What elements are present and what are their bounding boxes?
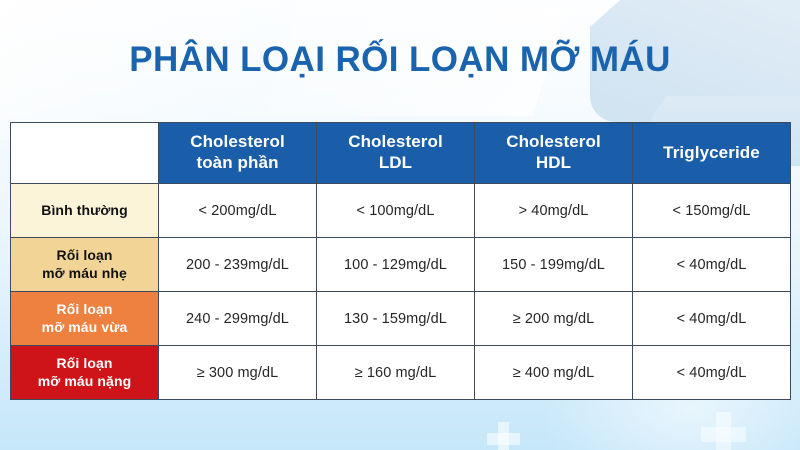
row-label-line2: mỡ máu nặng xyxy=(11,373,158,391)
cell-value: ≥ 300 mg/dL xyxy=(159,346,317,400)
column-header-triglyceride: Triglyceride xyxy=(633,123,791,184)
row-label-roi-loan-nang: Rối loạn mỡ máu nặng xyxy=(11,346,159,400)
hexagon-icon xyxy=(300,392,484,450)
cell-value: 130 - 159mg/dL xyxy=(317,292,475,346)
column-header-line1: Cholesterol xyxy=(317,132,474,153)
cell-value: > 40mg/dL xyxy=(475,184,633,238)
row-label-line1: Bình thường xyxy=(11,202,158,220)
cell-value: < 100mg/dL xyxy=(317,184,475,238)
column-header-line1: Cholesterol xyxy=(475,132,632,153)
row-label-line1: Rối loạn xyxy=(11,301,158,319)
cell-value: 200 - 239mg/dL xyxy=(159,238,317,292)
column-header-line2: HDL xyxy=(475,153,632,174)
column-header-line2: toàn phần xyxy=(159,153,316,174)
row-label-binh-thuong: Bình thường xyxy=(11,184,159,238)
table-corner-cell xyxy=(11,123,159,184)
page-title: PHÂN LOẠI RỐI LOẠN MỠ MÁU xyxy=(0,41,800,80)
column-header-line1: Cholesterol xyxy=(159,132,316,153)
cell-value: ≥ 160 mg/dL xyxy=(317,346,475,400)
cell-value: < 150mg/dL xyxy=(633,184,791,238)
cell-value: < 40mg/dL xyxy=(633,238,791,292)
cell-value: 150 - 199mg/dL xyxy=(475,238,633,292)
table-row: Bình thường < 200mg/dL < 100mg/dL > 40mg… xyxy=(11,184,791,238)
cell-value: < 200mg/dL xyxy=(159,184,317,238)
column-header-cholesterol-total: Cholesterol toàn phần xyxy=(159,123,317,184)
table-header-row: Cholesterol toàn phần Cholesterol LDL Ch… xyxy=(11,123,791,184)
table-row: Rối loạn mỡ máu nặng ≥ 300 mg/dL ≥ 160 m… xyxy=(11,346,791,400)
row-label-line2: mỡ máu vừa xyxy=(11,319,158,337)
column-header-cholesterol-ldl: Cholesterol LDL xyxy=(317,123,475,184)
column-header-line2: LDL xyxy=(317,153,474,174)
table-row: Rối loạn mỡ máu vừa 240 - 299mg/dL 130 -… xyxy=(11,292,791,346)
column-header-cholesterol-hdl: Cholesterol HDL xyxy=(475,123,633,184)
cell-value: < 40mg/dL xyxy=(633,346,791,400)
cell-value: < 40mg/dL xyxy=(633,292,791,346)
hexagon-icon xyxy=(168,404,342,450)
slide-canvas: PHÂN LOẠI RỐI LOẠN MỠ MÁU Cholesterol to… xyxy=(0,0,800,450)
column-header-line1: Triglyceride xyxy=(633,143,790,164)
medical-cross-icon xyxy=(716,412,731,450)
row-label-line1: Rối loạn xyxy=(11,247,158,265)
row-label-line1: Rối loạn xyxy=(11,355,158,373)
cell-value: 100 - 129mg/dL xyxy=(317,238,475,292)
medical-cross-icon xyxy=(498,422,509,450)
classification-table-container: Cholesterol toàn phần Cholesterol LDL Ch… xyxy=(10,122,790,400)
cell-value: 240 - 299mg/dL xyxy=(159,292,317,346)
cell-value: ≥ 400 mg/dL xyxy=(475,346,633,400)
classification-table: Cholesterol toàn phần Cholesterol LDL Ch… xyxy=(10,122,791,400)
row-label-roi-loan-nhe: Rối loạn mỡ máu nhẹ xyxy=(11,238,159,292)
cell-value: ≥ 200 mg/dL xyxy=(475,292,633,346)
table-row: Rối loạn mỡ máu nhẹ 200 - 239mg/dL 100 -… xyxy=(11,238,791,292)
row-label-line2: mỡ máu nhẹ xyxy=(11,265,158,283)
row-label-roi-loan-vua: Rối loạn mỡ máu vừa xyxy=(11,292,159,346)
hexagon-icon xyxy=(45,398,199,450)
